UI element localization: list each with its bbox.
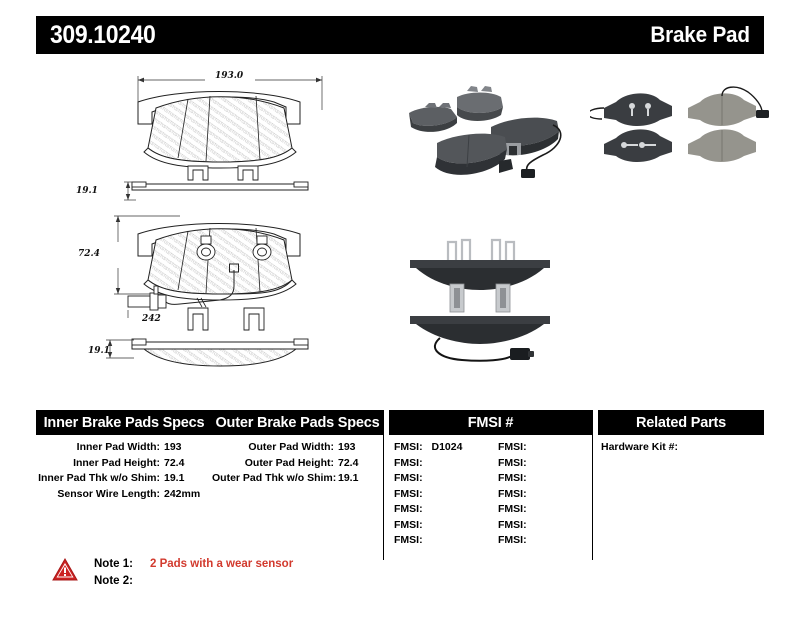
fmsi-row: FMSI: [498,533,536,549]
illustration-area: STOP 193.0 [0,58,800,388]
spec-row: Outer Pad Height: 72.4 [212,456,383,472]
dimension-label-thickness-top: 19.1 [76,186,98,196]
related-part-label: Hardware Kit #: [601,440,678,456]
inner-specs-list: Inner Pad Width: 193 Inner Pad Height: 7… [36,440,212,502]
column-divider-2 [592,410,593,560]
spec-value: 72.4 [334,456,358,472]
warning-triangle-icon [52,558,78,582]
spec-row: Inner Pad Width: 193 [36,440,212,456]
fmsi-row: FMSI: D1024 [394,440,462,456]
spec-value: 193 [334,440,356,456]
spec-label: Inner Pad Height: [36,456,160,472]
product-photo-angled-pads [395,83,580,183]
notes-section: Note 1: 2 Pads with a wear sensor Note 2… [52,556,452,598]
fmsi-label: FMSI: [394,471,423,487]
spec-row: Outer Pad Thk w/o Shim: 19.1 [212,471,383,487]
note-1-label: Note 1: [94,556,144,573]
cad-drawing-top-view: STOP [60,66,380,191]
spec-row: Sensor Wire Length: 242mm [36,487,212,503]
fmsi-label: FMSI: [394,487,423,503]
fmsi-row: FMSI: [498,487,536,503]
column-header-inner-specs: Inner Brake Pads Specs [36,410,212,435]
product-photo-four-pads [590,80,770,185]
spec-value: 19.1 [334,471,358,487]
fmsi-label: FMSI: [498,502,527,518]
notes-text-block: Note 1: 2 Pads with a wear sensor Note 2… [94,556,293,590]
spec-label: Outer Pad Thk w/o Shim: [212,471,334,487]
note-2-label: Note 2: [94,573,144,590]
fmsi-row: FMSI: [394,533,462,549]
fmsi-row: FMSI: [498,456,536,472]
specifications-table: Inner Brake Pads Specs Outer Brake Pads … [36,410,764,560]
fmsi-label: FMSI: [394,533,423,549]
fmsi-row: FMSI: [498,440,536,456]
related-parts-list: Hardware Kit #: [601,440,687,456]
note-row-1: Note 1: 2 Pads with a wear sensor [94,556,293,573]
dimension-label-width: 193.0 [215,71,243,81]
fmsi-row: FMSI: [394,471,462,487]
fmsi-label: FMSI: [498,518,527,534]
spec-value: 193 [160,440,182,456]
spec-row: Inner Pad Height: 72.4 [36,456,212,472]
column-header-fmsi: FMSI # [389,410,592,435]
fmsi-label: FMSI: [498,471,527,487]
spec-row: Inner Pad Thk w/o Shim: 19.1 [36,471,212,487]
fmsi-label: FMSI: [394,518,423,534]
product-type-label: Brake Pad [651,22,750,48]
fmsi-label: FMSI: [394,440,423,456]
spec-value: 19.1 [160,471,184,487]
fmsi-row: FMSI: [394,502,462,518]
fmsi-label: FMSI: [498,533,527,549]
fmsi-label: FMSI: [498,456,527,472]
column-divider-1 [383,410,384,560]
spec-row: Outer Pad Width: 193 [212,440,383,456]
note-2-value [144,573,150,590]
dimension-label-sensor-length: 242 [142,314,161,324]
fmsi-row: FMSI: [394,456,462,472]
fmsi-row: FMSI: [498,502,536,518]
note-1-value: 2 Pads with a wear sensor [144,556,293,573]
column-header-outer-specs: Outer Brake Pads Specs [212,410,383,435]
fmsi-value: D1024 [426,440,463,456]
spec-value: 72.4 [160,456,184,472]
fmsi-list-left: FMSI: D1024 FMSI: FMSI: FMSI: FMSI: FMSI… [394,440,462,549]
spec-label: Outer Pad Width: [212,440,334,456]
fmsi-label: FMSI: [498,487,527,503]
spec-label: Inner Pad Thk w/o Shim: [36,471,160,487]
fmsi-row: FMSI: [394,487,462,503]
fmsi-row: FMSI: [498,471,536,487]
part-number: 309.10240 [50,21,155,50]
dimension-label-thickness-bottom: 19.1 [88,346,110,356]
fmsi-row: FMSI: [394,518,462,534]
outer-specs-list: Outer Pad Width: 193 Outer Pad Height: 7… [212,440,383,487]
fmsi-list-right: FMSI: FMSI: FMSI: FMSI: FMSI: FMSI: FMSI… [498,440,536,549]
column-header-related-parts: Related Parts [598,410,764,435]
fmsi-label: FMSI: [498,440,527,456]
spec-label: Inner Pad Width: [36,440,160,456]
fmsi-row: FMSI: [498,518,536,534]
related-part-row: Hardware Kit #: [601,440,687,456]
spec-value: 242mm [160,487,200,503]
fmsi-label: FMSI: [394,456,423,472]
header-bar: 309.10240 Brake Pad [36,16,764,54]
product-photo-edge-view [400,228,580,363]
dimension-label-height: 72.4 [78,249,100,259]
note-row-2: Note 2: [94,573,293,590]
spec-label: Outer Pad Height: [212,456,334,472]
fmsi-label: FMSI: [394,502,423,518]
spec-label: Sensor Wire Length: [36,487,160,503]
